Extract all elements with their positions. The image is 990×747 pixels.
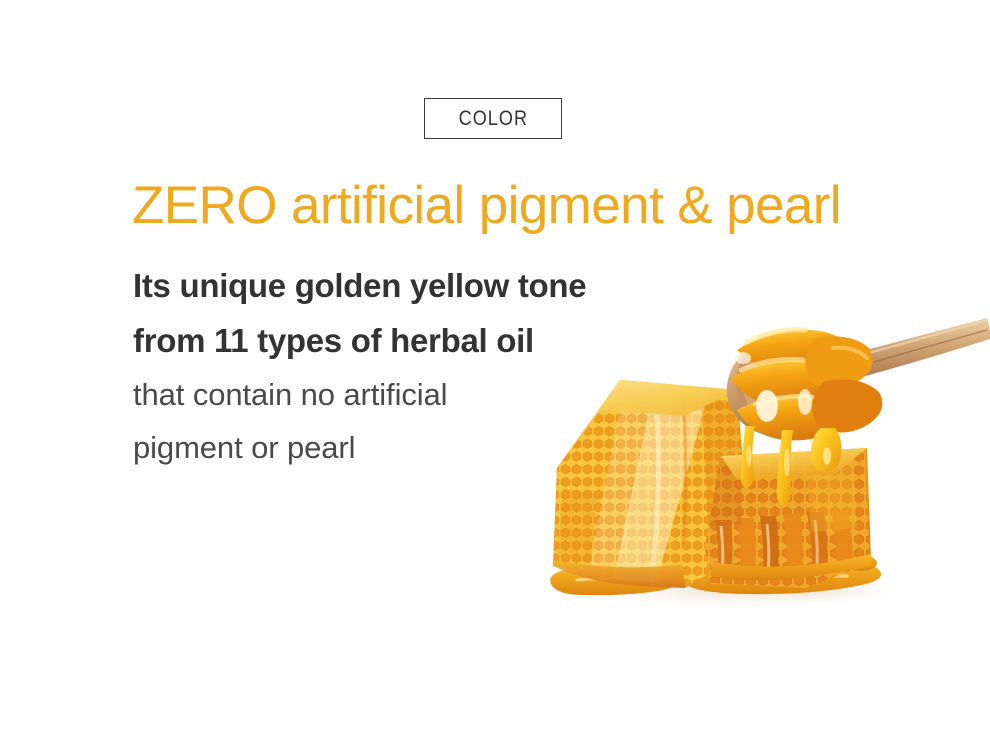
honeycomb-svg bbox=[505, 298, 990, 628]
color-badge: COLOR bbox=[424, 98, 562, 139]
color-banner: COLOR ZERO artificial pigment & pearl It… bbox=[0, 0, 990, 747]
color-badge-label: COLOR bbox=[458, 107, 527, 131]
honeycomb-illustration bbox=[505, 298, 990, 628]
headline: ZERO artificial pigment & pearl bbox=[132, 176, 841, 237]
dipper-honey-rings bbox=[731, 330, 882, 441]
